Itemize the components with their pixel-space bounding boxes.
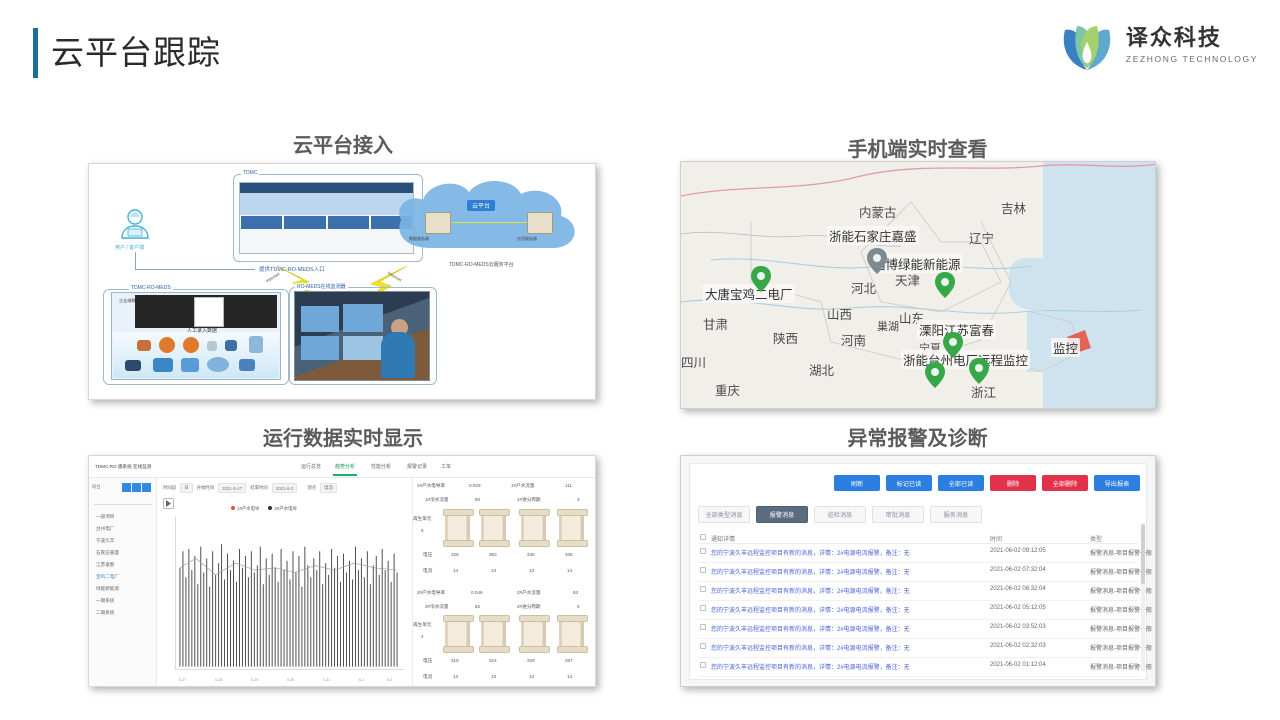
lotus-logo-icon (1056, 14, 1118, 76)
china-map: 内蒙古 吉林 辽宁 河北 天津 山西 山东 甘肃 陕西 河南 湖北 四川 重庆 … (681, 162, 1155, 408)
row-detail[interactable]: 您的宁波久丰远程监控项目有新的消息，详情：2#电源电流报警，备注：无 (711, 605, 910, 614)
unit-b-current-0: 13 (453, 674, 458, 679)
province-label: 重庆 (715, 380, 740, 399)
filter-period-select[interactable]: 日 (180, 483, 192, 493)
row-detail[interactable]: 您的宁波久丰远程监控项目有新的消息，详情：2#电源电流报警，备注：无 (711, 586, 910, 595)
row-time: 2021-06-02 06:32:04 (990, 586, 1046, 592)
unit-a-current-2: 13 (529, 568, 534, 573)
tree-item-4[interactable]: 江苏富春 (96, 562, 114, 568)
connector-line (135, 269, 255, 270)
unit-b-voltage-3: 267 (565, 658, 573, 663)
tab-service-messages[interactable]: 服务消息 (930, 506, 982, 523)
slide-root: 云平台跟踪 译众科技 ZEZHONG TECHNOLOGY 云平台接入 手机端实… (0, 0, 1280, 720)
site-label-taizhou[interactable]: 浙能台州电厂远程监控 (901, 350, 1030, 369)
brand-name-cn: 译众科技 (1126, 26, 1258, 50)
map-pin-icon[interactable] (867, 248, 887, 274)
row-time: 2021-06-02 03:52:03 (990, 624, 1046, 630)
alarm-action-buttons: 刷新 标记已读 全部已读 删除 全部删除 导出报表 (834, 475, 1140, 491)
process-flow-diagram (113, 332, 279, 378)
manual-entry-label: 人工录入数据 (187, 327, 217, 334)
row-detail[interactable]: 您的宁波久丰远程监控项目有新的消息，详情：2#电源电流报警，备注：无 (711, 548, 910, 557)
play-icon[interactable] (163, 498, 174, 509)
legend-item-1: 2#产水电导 (268, 506, 296, 512)
metric-label-5: 2#产水流量 (517, 590, 541, 596)
map-pin-icon[interactable] (935, 272, 955, 298)
x-tick: 5-29 (251, 678, 258, 682)
brand-text: 译众科技 ZEZHONG TECHNOLOGY (1126, 26, 1258, 63)
tree-item-3[interactable]: 石家庄嘉盛 (96, 550, 119, 556)
panel-alarm-table: 刷新 标记已读 全部已读 删除 全部删除 导出报表 全部类型消息 报警消息 巡检… (680, 455, 1156, 687)
sidebar-select[interactable] (94, 496, 152, 505)
row-checkbox[interactable] (700, 605, 706, 611)
metric-label-7: 2#进分周期 (517, 604, 541, 610)
tab-inspection-messages[interactable]: 巡检消息 (814, 506, 866, 523)
filter-label-end: 结束时间 (250, 485, 268, 491)
monitor-label: RO-MEDS在线监测器 (295, 283, 348, 290)
row-detail[interactable]: 您的宁波久丰远程监控项目有新的消息，详情：2#电源电流报警，备注：无 (711, 567, 910, 576)
unit-a-voltage-3: 335 (565, 552, 573, 557)
collapse-icon[interactable] (132, 483, 141, 492)
unit-b-voltage-0: 315 (451, 658, 459, 663)
table-row[interactable]: 您的宁波久丰远程监控项目有新的消息，详情：2#电源电流报警，备注：无 2021-… (698, 544, 1138, 563)
title-accent-bar (33, 28, 38, 78)
x-tick: 5-31 (323, 678, 330, 682)
tab-all-messages[interactable]: 全部类型消息 (698, 506, 750, 523)
metric-label-1: 1#产水流量 (511, 483, 535, 489)
system-label: TDMC-RO-MEDS (129, 285, 173, 291)
unit-b-voltage-1: 324 (489, 658, 497, 663)
section-title-alarm-diagnosis: 异常报警及诊断 (680, 422, 1155, 451)
refresh-icon[interactable] (142, 483, 151, 492)
row-detail[interactable]: 您的宁波久丰远程监控项目有新的消息，详情：2#电源电流报警，备注：无 (711, 643, 910, 652)
table-row[interactable]: 您的宁波久丰远程监控项目有新的消息，详情：2#电源电流报警，备注：无 2021-… (698, 658, 1138, 677)
unit-a-current-3: 14 (567, 568, 572, 573)
province-label: 河南 (841, 330, 866, 349)
x-tick: 5-30 (287, 678, 294, 682)
dashboard-brand: TDMC-RO 膜系统 在线监测 (95, 464, 151, 470)
row-checkbox[interactable] (700, 586, 706, 592)
row-label-voltage-a: 电压 (423, 552, 432, 558)
spool-graphic (559, 616, 584, 652)
server-left-label: 数据服务器 (409, 236, 429, 242)
metric-label-3: 1#进分周期 (517, 497, 541, 503)
spool-graphic (521, 616, 546, 652)
row-checkbox[interactable] (700, 643, 706, 649)
chart-filters: 时间段 日 开始时间 2021-5-27 结束时间 2021-6-2 测点 电流 (163, 483, 337, 493)
unit-b-value: 4 (421, 634, 424, 639)
province-label: 吉林 (1001, 198, 1026, 217)
panel-mobile-map: 内蒙古 吉林 辽宁 河北 天津 山西 山东 甘肃 陕西 河南 湖北 四川 重庆 … (680, 161, 1156, 409)
province-label: 辽宁 (969, 228, 994, 247)
row-label-voltage-b: 电压 (423, 658, 432, 664)
tree-item-2[interactable]: 宁波久丰 (96, 538, 114, 544)
metric-value-4: 0.046 (471, 590, 483, 595)
metric-label-6: 2#浓水流量 (425, 604, 449, 610)
province-label: 河北 (851, 278, 876, 297)
control-room-photo (294, 291, 430, 381)
unit-a-current-0: 14 (453, 568, 458, 573)
x-tick: 5-27 (179, 678, 186, 682)
spool-graphic (481, 510, 506, 546)
unit-b-current-3: 14 (567, 674, 572, 679)
panel-realtime-dashboard: TDMC-RO 膜系统 在线监测 运行总览 趋势分析 性能分析 报警记录 工单 … (88, 455, 596, 687)
tree-item-8[interactable]: 二期系统 (96, 610, 114, 616)
cloud-shape (389, 172, 589, 260)
tree-item-5-selected[interactable]: 宝鸡二电厂 (96, 574, 119, 580)
province-label: 湖北 (809, 360, 834, 379)
row-time: 2021-06-02 01:12:04 (990, 662, 1046, 668)
server-right-label: 应用服务器 (517, 236, 537, 242)
dashboard-sidebar: 项目 一级项目 台州电厂 宁波久丰 石家庄嘉盛 江苏富春 宝鸡二电厂 绿能新能源… (89, 478, 157, 686)
legend-item-0: 1#产水电导 (231, 506, 259, 512)
tree-item-0[interactable]: 一级项目 (96, 514, 114, 520)
unit-a-value: 6 (421, 528, 424, 533)
table-row[interactable]: 您的宁波久丰远程监控项目有新的消息，详情：2#电源电流报警，备注：无 2021-… (698, 582, 1138, 601)
tree-item-7[interactable]: 一期系统 (96, 598, 114, 604)
mark-all-read-button[interactable]: 全部已读 (938, 475, 984, 491)
tab-approval-messages[interactable]: 审批消息 (872, 506, 924, 523)
table-row[interactable]: 您的宁波久丰远程监控项目有新的消息，详情：2#电源电流报警，备注：无 2021-… (698, 601, 1138, 620)
tree-item-1[interactable]: 台州电厂 (96, 526, 114, 532)
server-link (451, 222, 527, 223)
tab-alarm-messages[interactable]: 报警消息 (756, 506, 808, 523)
tab-trend[interactable]: 趋势分析 (335, 463, 355, 470)
filter-end-date[interactable]: 2021-6-2 (272, 483, 298, 493)
tab-performance[interactable]: 性能分析 (371, 463, 391, 470)
refresh-button[interactable]: 刷新 (834, 475, 880, 491)
table-row[interactable]: 您的宁波久丰远程监控项目有新的消息，详情：2#电源电流报警，备注：无 2021-… (698, 620, 1138, 639)
alarm-card: 刷新 标记已读 全部已读 删除 全部删除 导出报表 全部类型消息 报警消息 巡检… (689, 463, 1147, 680)
row-label-current-b: 电流 (423, 674, 432, 680)
server-icon (425, 212, 451, 234)
select-all-checkbox[interactable] (700, 534, 706, 540)
expand-icon[interactable] (122, 483, 131, 492)
alarm-screenshot: 刷新 标记已读 全部已读 删除 全部删除 导出报表 全部类型消息 报警消息 巡检… (681, 456, 1155, 686)
cloud-architecture-diagram: 用户 / 客户端 TDMC 提供TDMC-RO-MEDS入口 云平台 数据 (89, 164, 595, 399)
trend-chart-series (176, 516, 404, 669)
spool-graphic (445, 616, 470, 652)
brand-name-en: ZEZHONG TECHNOLOGY (1126, 54, 1258, 64)
filter-label-start: 开始时间 (197, 485, 215, 491)
spool-graphic (481, 616, 506, 652)
filter-start-date[interactable]: 2021-5-27 (218, 483, 246, 493)
mark-read-button[interactable]: 标记已读 (886, 475, 932, 491)
tree-item-6[interactable]: 绿能新能源 (96, 586, 119, 592)
software-dialog (194, 297, 224, 327)
column-header-type: 类型 (1090, 534, 1102, 543)
row-detail[interactable]: 您的宁波久丰远程监控项目有新的消息，详情：2#电源电流报警，备注：无 (711, 624, 910, 633)
cloud-title-badge: 云平台 (467, 200, 495, 211)
chart-area: 时间段 日 开始时间 2021-5-27 结束时间 2021-6-2 测点 电流… (157, 478, 412, 686)
column-header-time: 时间 (990, 534, 1002, 543)
page-title: 云平台跟踪 (51, 35, 221, 71)
row-checkbox[interactable] (700, 624, 706, 630)
sidebar-tree-title: 项目 (92, 484, 100, 490)
export-report-button[interactable]: 导出报表 (1094, 475, 1140, 491)
map-pin-icon[interactable] (751, 266, 771, 292)
section-title-realtime-data: 运行数据实时显示 (88, 422, 598, 451)
row-time: 2021-06-02 05:12:05 (990, 605, 1046, 611)
province-label: 四川 (681, 352, 706, 371)
metric-value-1: 111 (565, 483, 572, 488)
unit-a-voltage-0: 326 (451, 552, 459, 557)
cloud-sub-label: TDMC-RO-MEDS云服务平台 (449, 261, 514, 268)
site-label-monitor[interactable]: 监控 (1051, 338, 1080, 357)
alarm-tabs: 全部类型消息 报警消息 巡检消息 审批消息 服务消息 (698, 506, 982, 523)
row-checkbox[interactable] (700, 662, 706, 668)
filter-point-select[interactable]: 电流 (320, 483, 337, 493)
row-checkbox[interactable] (700, 548, 706, 554)
table-header-row: 通知详情 时间 类型 (698, 530, 1138, 544)
site-label-baoji[interactable]: 大唐宝鸡二电厂 (703, 284, 795, 303)
x-tick: 6-2 (387, 678, 392, 682)
spool-graphic (445, 510, 470, 546)
x-tick: 5-28 (215, 678, 222, 682)
alarm-scrollbar[interactable] (1141, 524, 1145, 671)
delete-button[interactable]: 删除 (990, 475, 1036, 491)
metric-value-3: 3 (577, 497, 580, 502)
spool-graphic (559, 510, 584, 546)
chart-legend: 1#产水电导 2#产水电导 (231, 506, 297, 512)
dashboard-screenshot: TDMC-RO 膜系统 在线监测 运行总览 趋势分析 性能分析 报警记录 工单 … (89, 456, 595, 686)
delete-all-button[interactable]: 全部删除 (1042, 475, 1088, 491)
table-row[interactable]: 您的宁波久丰远程监控项目有新的消息，详情：2#电源电流报警，备注：无 2021-… (698, 639, 1138, 658)
spool-graphic (521, 510, 546, 546)
map-pin-icon[interactable] (943, 332, 963, 358)
row-detail[interactable]: 您的宁波久丰远程监控项目有新的消息，详情：2#电源电流报警，备注：无 (711, 662, 910, 671)
province-label: 甘肃 (703, 314, 728, 333)
portal-tiles (241, 216, 412, 229)
metric-value-0: 0.029 (469, 483, 481, 488)
metric-label-0: 1#产水电导率 (417, 483, 445, 489)
user-icon (117, 206, 153, 242)
tab-overview[interactable]: 运行总览 (301, 463, 321, 470)
x-tick: 6-1 (359, 678, 364, 682)
province-label: 浙江 (971, 382, 996, 401)
metric-label-4: 2#产水电导率 (417, 590, 445, 596)
province-label: 内蒙古 (859, 202, 897, 221)
sidebar-action-buttons[interactable] (122, 483, 151, 492)
portal-label: TDMC (241, 170, 259, 176)
province-label: 山西 (827, 304, 852, 323)
unit-b-label: 再生单元 (413, 622, 431, 628)
unit-a-voltage-1: 363 (489, 552, 497, 557)
map-pin-icon[interactable] (969, 358, 989, 384)
metric-label-2: 1#浓水流量 (425, 497, 449, 503)
unit-b-current-2: 13 (529, 674, 534, 679)
province-label: 巢湖 (877, 318, 899, 334)
province-label: 陕西 (773, 328, 798, 347)
row-time: 2021-06-02 07:32:04 (990, 567, 1046, 573)
section-title-cloud-access: 云平台接入 (88, 129, 598, 158)
trend-chart-plot: 0.4 0.3 0.2 0.1 0 (175, 516, 404, 670)
tab-worksheet[interactable]: 工单 (441, 463, 451, 470)
map-pin-icon[interactable] (925, 362, 945, 388)
column-header-detail: 通知详情 (711, 534, 735, 543)
unit-b-current-1: 13 (491, 674, 496, 679)
unit-a-current-1: 13 (491, 568, 496, 573)
metric-value-6: 82 (475, 604, 480, 609)
tab-alarms[interactable]: 报警记录 (407, 463, 427, 470)
brand-logo: 译众科技 ZEZHONG TECHNOLOGY (1056, 14, 1258, 76)
unit-a-voltage-2: 336 (527, 552, 535, 557)
user-label: 用户 / 客户端 (115, 244, 144, 251)
filter-label-period: 时间段 (163, 485, 176, 491)
panel-cloud-access: 用户 / 客户端 TDMC 提供TDMC-RO-MEDS入口 云平台 数据 (88, 163, 596, 400)
unit-b-voltage-2: 329 (527, 658, 535, 663)
server-icon (527, 212, 553, 234)
row-checkbox[interactable] (700, 567, 706, 573)
page-title-group: 云平台跟踪 (33, 28, 221, 78)
metric-value-5: 63 (573, 590, 578, 595)
unit-a-label: 再生单元 (413, 516, 431, 522)
site-label-shijiazhuang[interactable]: 浙能石家庄嘉盛 (827, 226, 919, 245)
row-time: 2021-06-02 02:32:03 (990, 643, 1046, 649)
metrics-column: 1#产水电导率 0.029 1#产水流量 111 1#浓水流量 60 1#进分周… (412, 478, 595, 686)
row-time: 2021-06-02 09:12:05 (990, 548, 1046, 554)
metric-value-2: 60 (475, 497, 480, 502)
table-row[interactable]: 您的宁波久丰远程监控项目有新的消息，详情：2#电源电流报警，备注：无 2021-… (698, 563, 1138, 582)
metric-value-7: 6 (577, 604, 580, 609)
row-label-current-a: 电流 (423, 568, 432, 574)
connector-line (135, 252, 136, 270)
filter-label-point: 测点 (307, 485, 316, 491)
section-title-mobile-view: 手机端实时查看 (680, 133, 1155, 162)
